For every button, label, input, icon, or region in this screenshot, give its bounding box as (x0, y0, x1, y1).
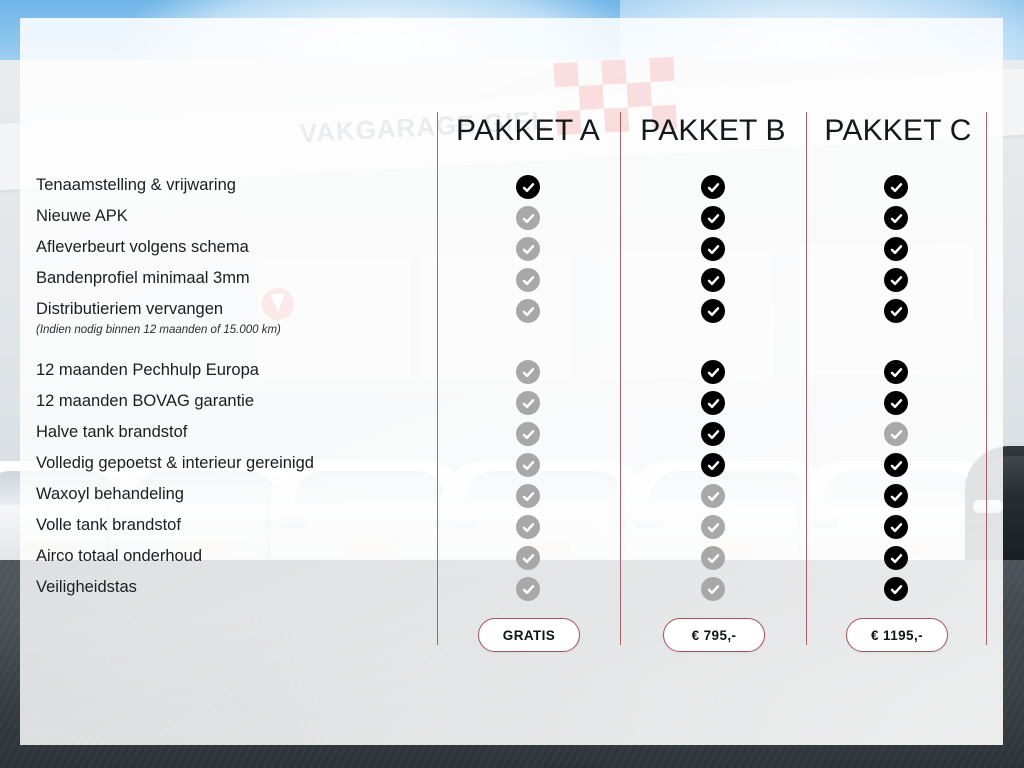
package-comparison-table: PAKKET A PAKKET B PAKKET C Tenaamstellin… (0, 0, 1024, 768)
feature-label: Halve tank brandstof (36, 423, 187, 442)
check-a-excluded (516, 484, 540, 508)
check-c-included (884, 268, 908, 292)
check-a-included (516, 175, 540, 199)
check-c-included (884, 453, 908, 477)
check-c-included (884, 206, 908, 230)
check-c-excluded (884, 422, 908, 446)
check-c-included (884, 577, 908, 601)
feature-label: Volledig gepoetst & interieur gereinigd (36, 454, 314, 473)
check-a-excluded (516, 206, 540, 230)
check-c-included (884, 237, 908, 261)
feature-label: Tenaamstelling & vrijwaring (36, 176, 236, 195)
check-b-included (701, 422, 725, 446)
check-a-excluded (516, 453, 540, 477)
column-header-pakket-c: PAKKET C (808, 114, 988, 148)
check-b-included (701, 237, 725, 261)
feature-label: Afleverbeurt volgens schema (36, 238, 249, 257)
check-c-included (884, 484, 908, 508)
check-b-excluded (701, 577, 725, 601)
check-a-excluded (516, 515, 540, 539)
check-a-excluded (516, 391, 540, 415)
price-pill-pakket-c[interactable]: € 1195,- (846, 618, 948, 652)
check-b-excluded (701, 515, 725, 539)
column-divider (986, 112, 987, 645)
check-b-included (701, 268, 725, 292)
check-a-excluded (516, 546, 540, 570)
column-divider (806, 112, 807, 645)
feature-note: (Indien nodig binnen 12 maanden of 15.00… (36, 324, 281, 336)
feature-label: Volle tank brandstof (36, 516, 181, 535)
check-a-excluded (516, 237, 540, 261)
check-a-excluded (516, 422, 540, 446)
feature-label: Nieuwe APK (36, 207, 128, 226)
feature-label: Bandenprofiel minimaal 3mm (36, 269, 250, 288)
check-b-included (701, 391, 725, 415)
feature-label: Veiligheidstas (36, 578, 137, 597)
feature-label: Distributieriem vervangen (36, 300, 223, 319)
check-b-excluded (701, 546, 725, 570)
check-b-included (701, 360, 725, 384)
check-b-included (701, 175, 725, 199)
check-c-included (884, 360, 908, 384)
check-a-excluded (516, 577, 540, 601)
price-pill-pakket-a[interactable]: GRATIS (478, 618, 580, 652)
check-a-excluded (516, 299, 540, 323)
check-b-included (701, 299, 725, 323)
feature-label: Waxoyl behandeling (36, 485, 184, 504)
check-c-included (884, 391, 908, 415)
column-divider (437, 112, 438, 645)
check-b-included (701, 453, 725, 477)
check-c-included (884, 546, 908, 570)
check-b-included (701, 206, 725, 230)
check-c-included (884, 175, 908, 199)
feature-label: 12 maanden BOVAG garantie (36, 392, 254, 411)
column-divider (620, 112, 621, 645)
feature-label: 12 maanden Pechhulp Europa (36, 361, 259, 380)
check-c-included (884, 515, 908, 539)
check-a-excluded (516, 360, 540, 384)
check-b-excluded (701, 484, 725, 508)
feature-label: Airco totaal onderhoud (36, 547, 202, 566)
column-header-pakket-b: PAKKET B (623, 114, 803, 148)
price-pill-pakket-b[interactable]: € 795,- (663, 618, 765, 652)
check-a-excluded (516, 268, 540, 292)
column-header-pakket-a: PAKKET A (438, 114, 618, 148)
check-c-included (884, 299, 908, 323)
